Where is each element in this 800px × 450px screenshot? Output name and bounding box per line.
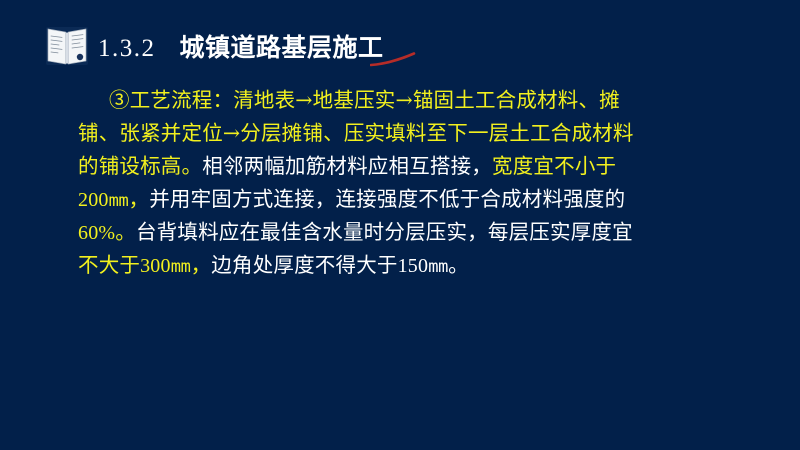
text-run: mm (109, 191, 129, 211)
open-book-icon (44, 24, 90, 68)
text-run: 相邻两幅加筋材料应相互搭接， (202, 154, 492, 178)
text-run: ， (191, 253, 212, 277)
text-run: 150 (398, 255, 429, 277)
text-run: ， (128, 187, 149, 211)
slide-canvas: 1.3.2 城镇道路基层施工 ③工艺流程：清地表→地基压实→锚固土工合成材料、摊… (0, 0, 800, 450)
text-run: mm (428, 257, 448, 277)
section-number: 1.3.2 (98, 35, 156, 63)
text-run: 60% (78, 222, 115, 244)
text-run: 不大于 (78, 253, 140, 277)
text-line: 60%。台背填料应在最佳含水量时分层压实，每层压实厚度宜 (78, 216, 578, 249)
text-run: 。 (115, 220, 136, 244)
text-run: 边角处厚度不得大于 (211, 253, 397, 277)
text-run: ③工艺流程： (109, 88, 233, 112)
slide-header: 1.3.2 城镇道路基层施工 (44, 20, 384, 72)
text-line: 不大于300mm，边角处厚度不得大于150mm。 (78, 249, 578, 282)
text-line: 铺、张紧并定位→分层摊铺、压实填料至下一层土工合成材料 (78, 117, 578, 150)
text-run: 铺、张紧并定位→分层摊铺、压实填料至下一层土工合成材料 (78, 121, 634, 145)
text-run: 并用牢固方式连接，连接强度不低于合成材料强度的 (149, 187, 625, 211)
page-title: 1.3.2 城镇道路基层施工 (98, 28, 384, 64)
section-title: 城镇道路基层施工 (180, 28, 384, 64)
text-run: 台背填料应在最佳含水量时分层压实，每层压实厚度宜 (136, 220, 633, 244)
text-run: 清地表→地基压实→锚固土工合成材料、摊 (233, 88, 620, 112)
text-line: 的铺设标高。相邻两幅加筋材料应相互搭接，宽度宜不小于 (78, 150, 578, 183)
body-paragraph: ③工艺流程：清地表→地基压实→锚固土工合成材料、摊铺、张紧并定位→分层摊铺、压实… (78, 84, 578, 282)
text-run: 300 (140, 255, 171, 277)
text-run: 宽度宜不小于 (492, 154, 616, 178)
text-run: 。 (448, 253, 469, 277)
text-run: 200 (78, 189, 109, 211)
text-line: ③工艺流程：清地表→地基压实→锚固土工合成材料、摊 (78, 84, 578, 117)
text-run: mm (171, 257, 191, 277)
text-line: 200mm，并用牢固方式连接，连接强度不低于合成材料强度的 (78, 183, 578, 216)
red-underline-annotation (370, 52, 416, 68)
text-run: 的铺设标高。 (78, 154, 202, 178)
